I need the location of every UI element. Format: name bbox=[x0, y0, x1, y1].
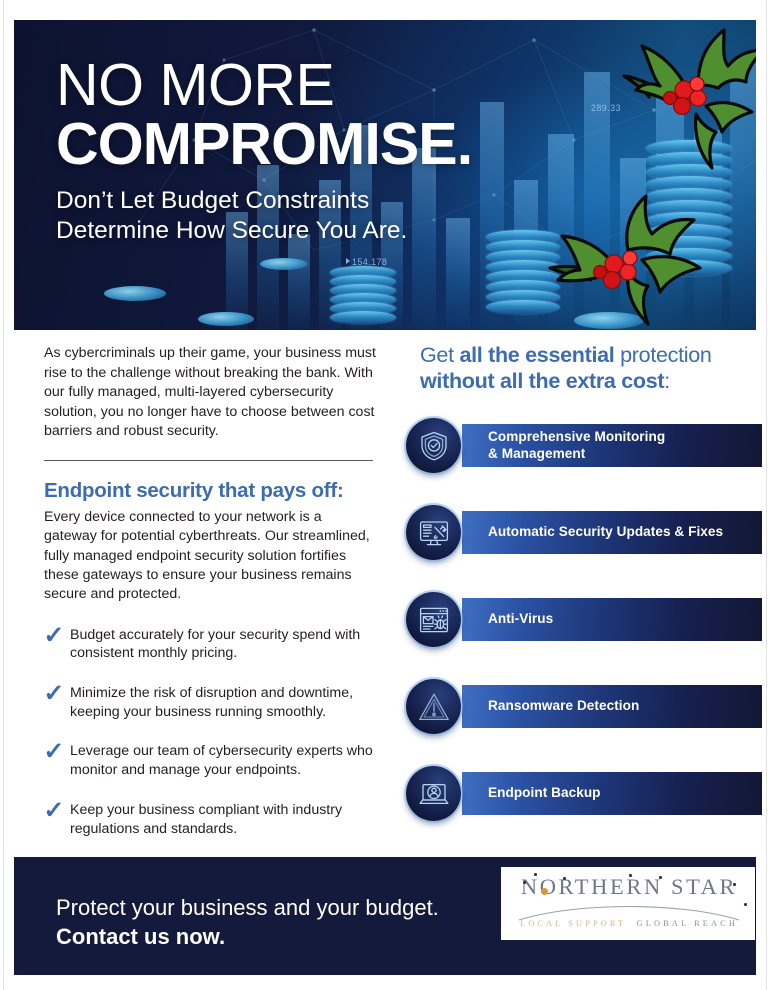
feature-row[interactable]: Automatic Security Updates & Fixes bbox=[406, 505, 762, 560]
logo-star-icon bbox=[534, 873, 537, 876]
feature-bar: Automatic Security Updates & Fixes bbox=[462, 511, 762, 554]
feature-label: Anti-Virus bbox=[488, 611, 553, 627]
hero-subheadline: Don’t Let Budget Constraints Determine H… bbox=[56, 186, 472, 246]
feature-label: Automatic Security Updates & Fixes bbox=[488, 524, 723, 540]
logo-tagline-part1: LOCAL SUPPORT bbox=[520, 919, 626, 928]
hero-copy: NO MORE COMPROMISE. Don’t Let Budget Con… bbox=[56, 56, 472, 246]
monitor-tools-icon bbox=[418, 517, 450, 549]
coin-loose-2 bbox=[198, 312, 254, 326]
features-heading: Get all the essential protectionwithout … bbox=[420, 342, 756, 394]
footer-copy: Protect your business and your budget. C… bbox=[56, 894, 439, 951]
coin-stack-1 bbox=[330, 266, 396, 330]
page-edge-left bbox=[3, 0, 4, 990]
feature-row[interactable]: Ransomware Detection bbox=[406, 679, 762, 734]
list-item: ✓ Budget accurately for your security sp… bbox=[44, 625, 376, 663]
holly-sprig-bottom-icon bbox=[542, 188, 722, 330]
marker-triangle-icon bbox=[346, 258, 350, 264]
feature-icon-badge bbox=[406, 766, 461, 821]
logo-star-icon bbox=[563, 877, 566, 880]
list-item: ✓ Keep your business compliant with indu… bbox=[44, 800, 376, 838]
coin-loose-1 bbox=[104, 286, 166, 301]
feature-bar: Ransomware Detection bbox=[462, 685, 762, 728]
page-edge-right bbox=[766, 0, 767, 990]
feature-icon-badge bbox=[406, 592, 461, 647]
holly-sprig-top-icon bbox=[602, 28, 756, 188]
logo-star-icon bbox=[523, 881, 526, 884]
list-item-label: Leverage our team of cybersecurity exper… bbox=[70, 741, 376, 779]
feature-label: Comprehensive Monitoring & Management bbox=[488, 429, 665, 461]
coin-loose-4 bbox=[260, 258, 308, 270]
warning-triangle-icon bbox=[418, 691, 450, 723]
logo-star-icon bbox=[629, 874, 632, 877]
logo-star-icon bbox=[659, 876, 662, 879]
left-content-column: As cybercriminals up their game, your bu… bbox=[44, 344, 376, 858]
features-heading-part4: without all the extra cost bbox=[420, 369, 664, 393]
feature-bar: Comprehensive Monitoring & Management bbox=[462, 424, 762, 467]
feature-row[interactable]: Endpoint Backup bbox=[406, 766, 762, 821]
feature-list: Comprehensive Monitoring & Management Au… bbox=[406, 418, 762, 821]
footer-cta-line1: Protect your business and your budget. bbox=[56, 894, 439, 923]
feature-row[interactable]: Anti-Virus bbox=[406, 592, 762, 647]
feature-icon-badge bbox=[406, 505, 461, 560]
list-item-label: Keep your business compliant with indust… bbox=[70, 800, 376, 838]
logo-star-accent-icon bbox=[541, 888, 548, 895]
features-heading-part1: Get bbox=[420, 343, 459, 367]
list-item-label: Budget accurately for your security spen… bbox=[70, 625, 376, 663]
hero-headline-line1: NO MORE bbox=[56, 56, 472, 114]
hero-headline-line2: COMPROMISE. bbox=[56, 114, 472, 176]
feature-icon-badge bbox=[406, 418, 461, 473]
laptop-user-icon bbox=[418, 778, 450, 810]
footer-cta-bar: Protect your business and your budget. C… bbox=[14, 857, 756, 975]
hero-subheadline-line2: Determine How Secure You Are. bbox=[56, 216, 472, 246]
endpoint-section-paragraph: Every device connected to your network i… bbox=[44, 508, 376, 605]
benefits-checklist: ✓ Budget accurately for your security sp… bbox=[44, 625, 376, 839]
section-divider bbox=[44, 460, 373, 461]
list-item-label: Minimize the risk of disruption and down… bbox=[70, 683, 376, 721]
logo-tagline: LOCAL SUPPORT GLOBAL REACH bbox=[511, 919, 747, 928]
feature-row[interactable]: Comprehensive Monitoring & Management bbox=[406, 418, 762, 473]
hero-subheadline-line1: Don’t Let Budget Constraints bbox=[56, 186, 472, 216]
features-heading-part2: all the essential bbox=[459, 343, 614, 367]
right-content-column: Get all the essential protectionwithout … bbox=[420, 342, 756, 394]
footer-cta-line2: Contact us now. bbox=[56, 923, 439, 952]
intro-paragraph: As cybercriminals up their game, your bu… bbox=[44, 344, 376, 442]
company-logo: NORTHERN STAR LOCAL SUPPORT GLOBAL REACH bbox=[501, 867, 755, 940]
logo-wordmark: NORTHERN STAR bbox=[511, 874, 747, 900]
hero-chart-label-2: 154.178 bbox=[346, 257, 387, 267]
logo-star-icon bbox=[733, 883, 736, 886]
browser-bug-icon bbox=[418, 604, 450, 636]
feature-icon-badge bbox=[406, 679, 461, 734]
check-icon: ✓ bbox=[43, 624, 70, 648]
check-icon: ✓ bbox=[43, 682, 70, 706]
logo-star-icon bbox=[744, 903, 747, 906]
feature-label: Endpoint Backup bbox=[488, 785, 601, 801]
features-heading-part5: : bbox=[664, 369, 670, 393]
features-heading-part3: protection bbox=[614, 343, 711, 367]
list-item: ✓ Leverage our team of cybersecurity exp… bbox=[44, 741, 376, 779]
feature-label: Ransomware Detection bbox=[488, 698, 639, 714]
flyer-page: 289.33 154.178 NO MORE COMPROMISE. Don’t… bbox=[0, 0, 770, 990]
logo-tagline-part2 bbox=[626, 919, 636, 928]
check-icon: ✓ bbox=[43, 799, 70, 823]
logo-tagline-part2: GLOBAL REACH bbox=[637, 919, 738, 928]
feature-bar: Endpoint Backup bbox=[462, 772, 762, 815]
shield-check-icon bbox=[418, 430, 450, 462]
feature-bar: Anti-Virus bbox=[462, 598, 762, 641]
list-item: ✓ Minimize the risk of disruption and do… bbox=[44, 683, 376, 721]
endpoint-section-heading: Endpoint security that pays off: bbox=[44, 479, 376, 503]
check-icon: ✓ bbox=[43, 740, 70, 764]
hero-banner: 289.33 154.178 NO MORE COMPROMISE. Don’t… bbox=[14, 20, 756, 330]
